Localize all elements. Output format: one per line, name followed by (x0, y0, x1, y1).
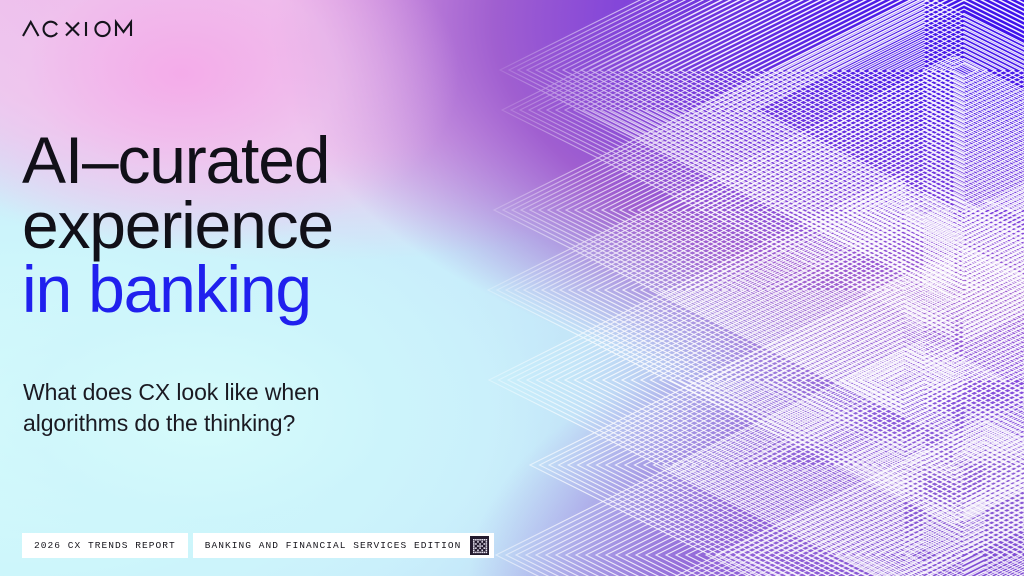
page-title: AI–curated experience in banking (22, 128, 333, 322)
qr-code-icon[interactable] (470, 536, 489, 555)
headline-line-1: AI–curated (22, 128, 333, 193)
badge-edition-label: BANKING AND FINANCIAL SERVICES EDITION (205, 540, 462, 551)
footer-badge-bar: 2026 CX TRENDS REPORT BANKING AND FINANC… (22, 533, 494, 558)
acxiom-logo[interactable] (22, 18, 140, 40)
acxiom-wordmark-icon (22, 18, 140, 40)
page-subtitle: What does CX look like when algorithms d… (23, 377, 319, 438)
headline-line-3: in banking (22, 257, 333, 322)
headline-line-2: experience (22, 193, 333, 258)
subtitle-line-1: What does CX look like when (23, 377, 319, 408)
badge-edition: BANKING AND FINANCIAL SERVICES EDITION (193, 533, 495, 558)
subtitle-line-2: algorithms do the thinking? (23, 408, 319, 439)
badge-report: 2026 CX TRENDS REPORT (22, 533, 188, 558)
isometric-layers-line-art (464, 0, 1024, 576)
